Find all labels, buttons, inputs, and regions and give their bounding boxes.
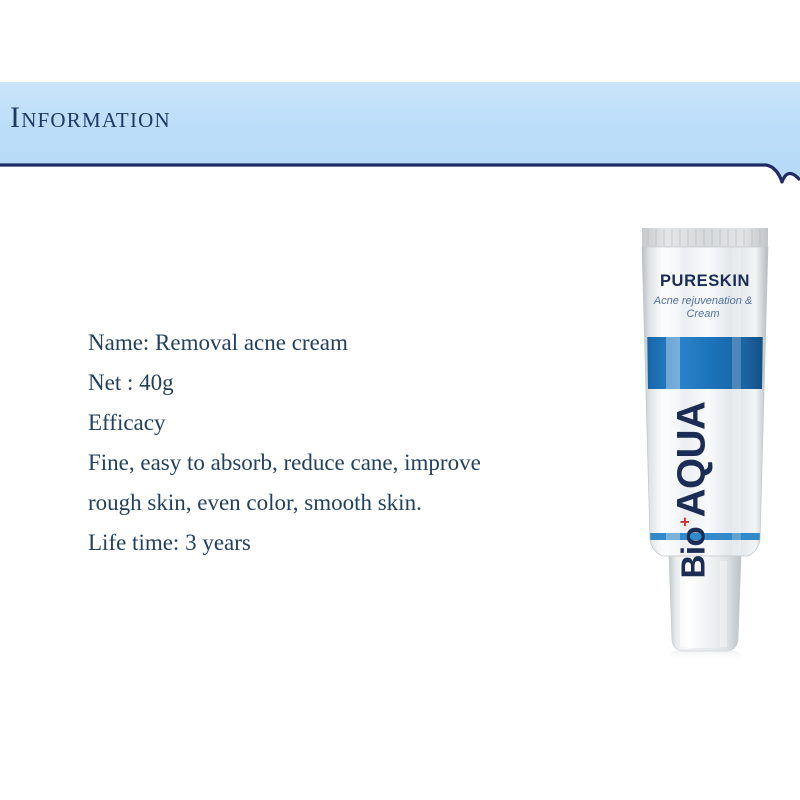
tube-cap <box>669 556 741 651</box>
tube-body <box>638 247 774 557</box>
info-line-efficacy-a: Fine, easy to absorb, reduce cane, impro… <box>88 443 558 483</box>
info-line-efficacy: Efficacy <box>88 403 558 443</box>
page-title: Information <box>10 103 171 133</box>
header-banner: Information <box>0 82 800 186</box>
product-tube-illustration <box>620 215 790 665</box>
product-image-tube: PURESKIN Acne rejuvenation & Cream Bio+A… <box>620 215 790 665</box>
header-banner-shape <box>0 82 800 186</box>
tube-blue-ring <box>638 533 774 540</box>
info-line-net: Net : 40g <box>88 363 558 403</box>
tube-reflection <box>669 648 741 662</box>
info-line-lifetime: Life time: 3 years <box>88 523 558 563</box>
header-bottom-border <box>0 165 800 182</box>
product-info-block: Name: Removal acne cream Net : 40g Effic… <box>88 323 558 563</box>
tube-blue-band <box>638 337 774 389</box>
tube-crimp-seal <box>642 228 768 247</box>
info-line-name: Name: Removal acne cream <box>88 323 558 363</box>
info-line-efficacy-b: rough skin, even color, smooth skin. <box>88 483 558 523</box>
